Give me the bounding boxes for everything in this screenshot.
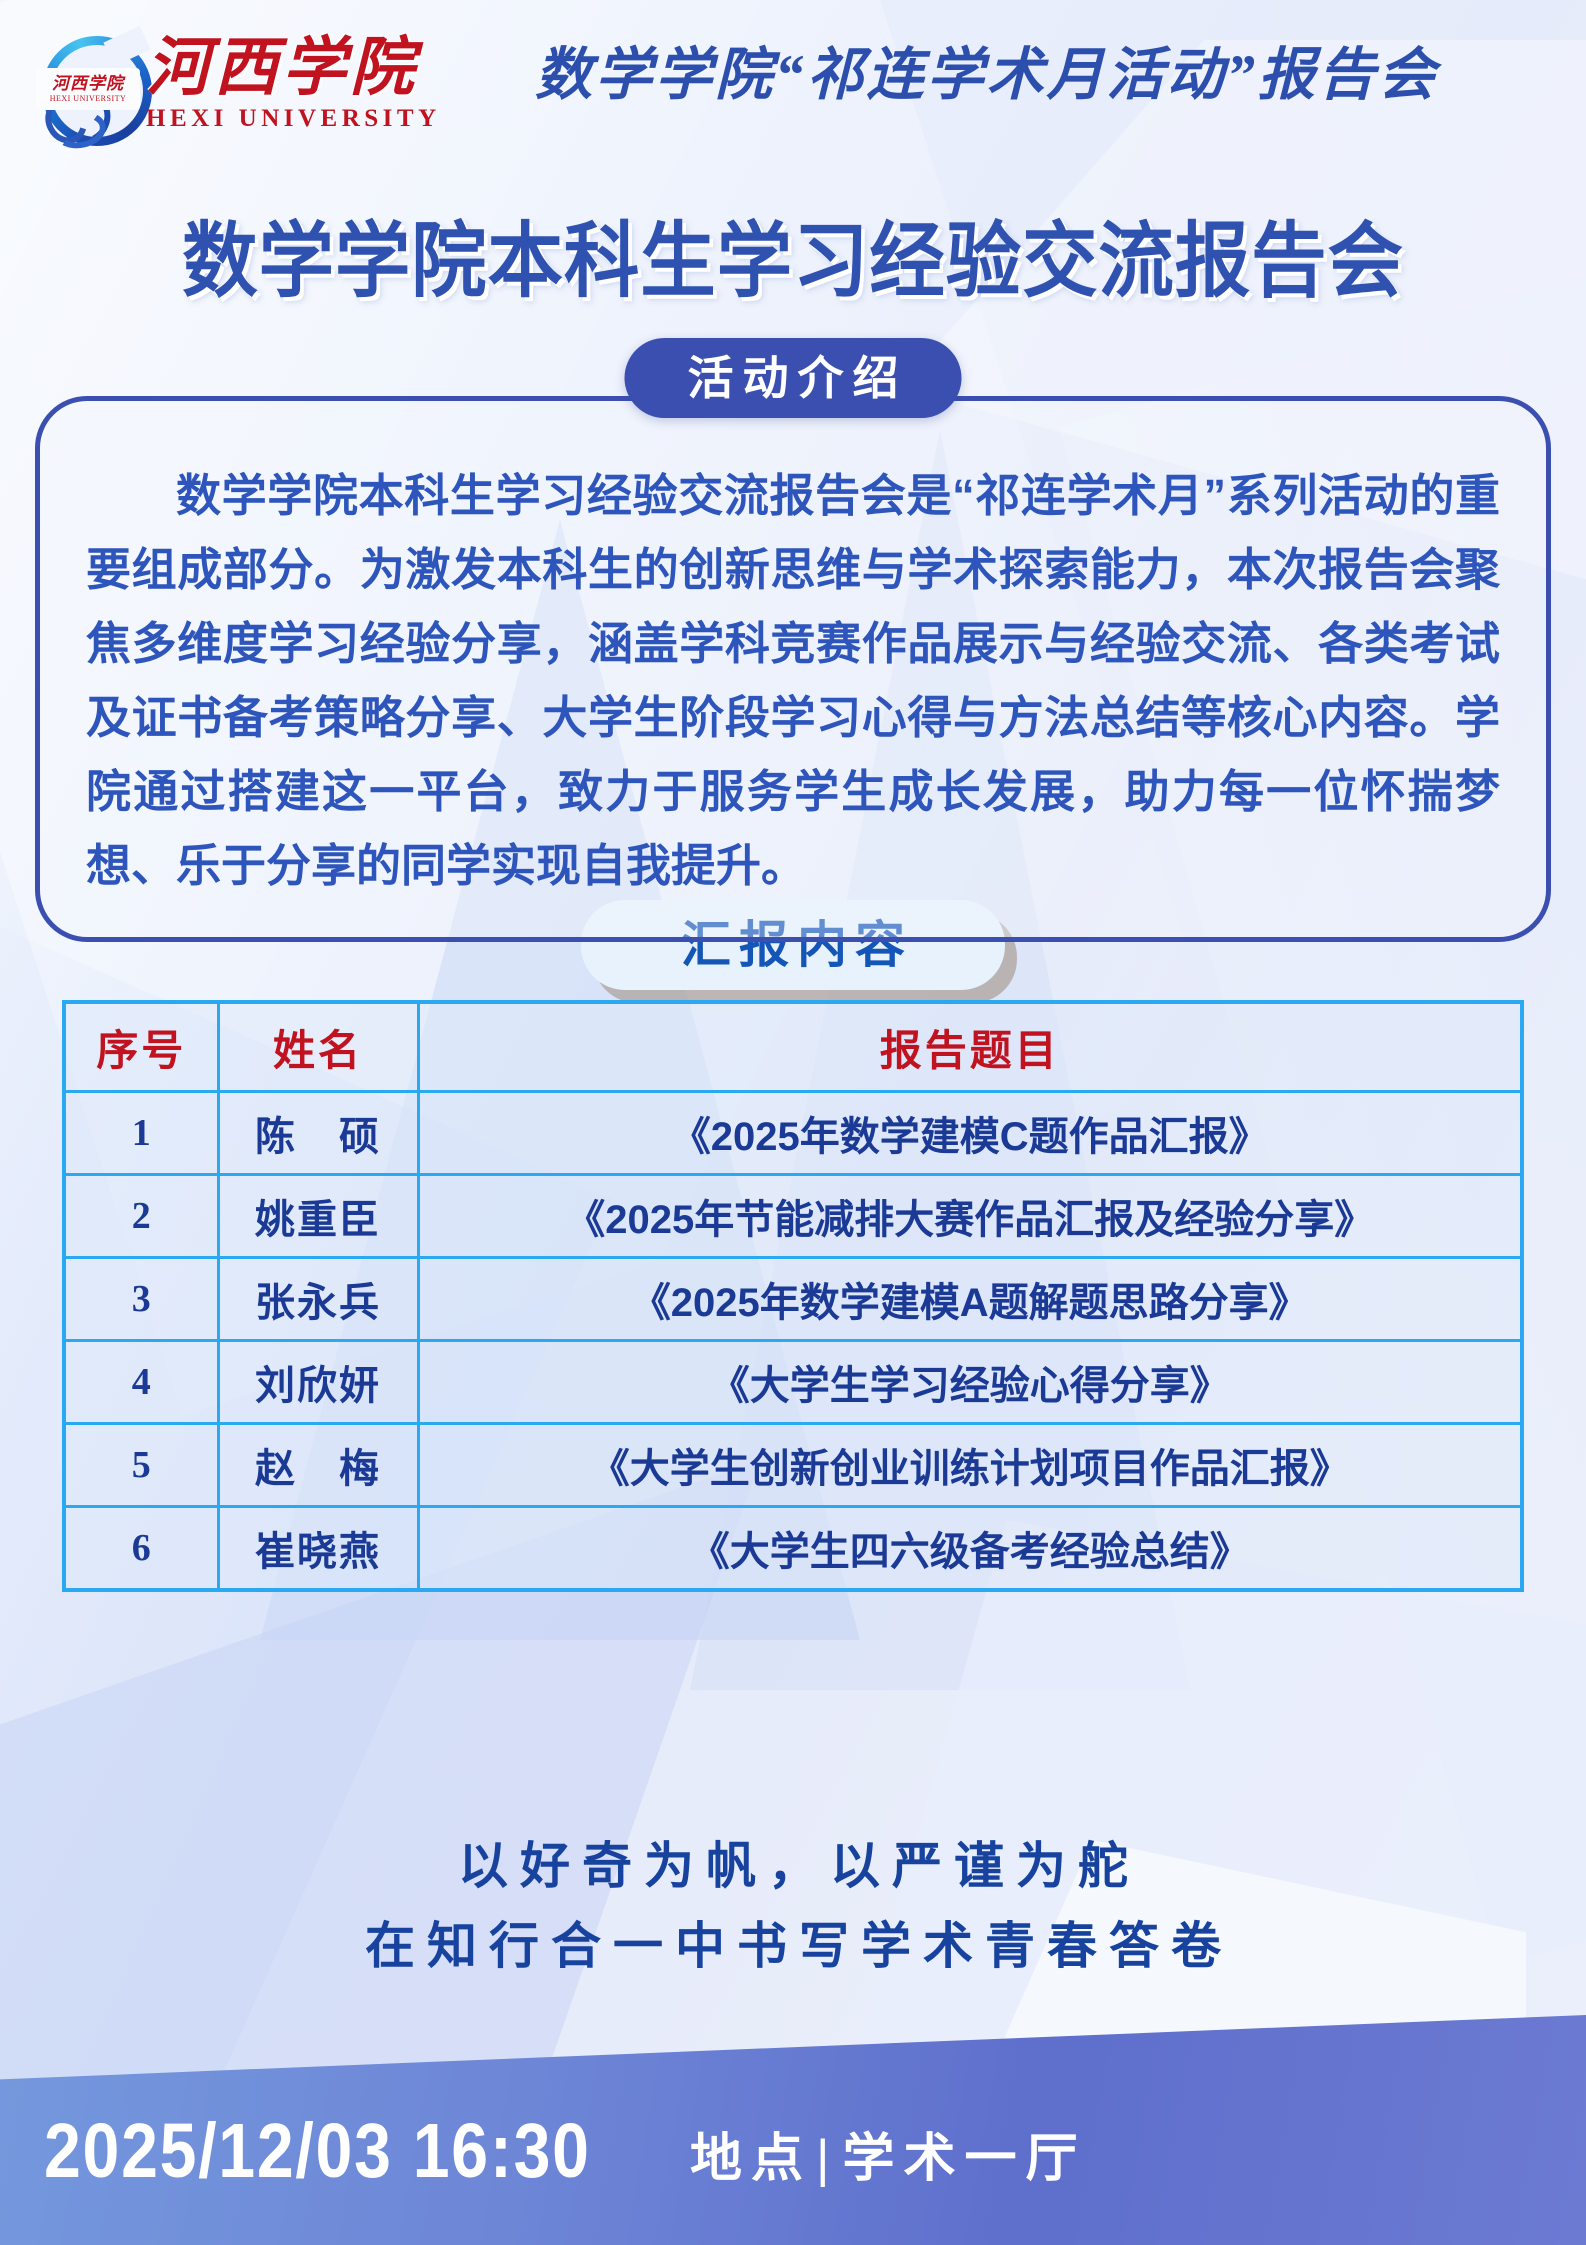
event-datetime: 2025/12/03 16:30	[44, 2109, 591, 2193]
event-location: 地点|学术一厅	[690, 2129, 1087, 2189]
logo-ring-icon: 河西学院 HEXI UNIVERSITY	[24, 32, 142, 144]
cell-name: 赵 梅	[218, 1424, 418, 1507]
intro-badge: 活动介绍	[625, 338, 962, 418]
cell-title: 《大学生四六级备考经验总结》	[418, 1507, 1522, 1591]
intro-panel: 数学学院本科生学习经验交流报告会是“祁连学术月”系列活动的重要组成部分。为激发本…	[35, 396, 1551, 942]
poster-header: 河西学院 HEXI UNIVERSITY 河西学院 HEXI UNIVERSIT…	[0, 0, 1586, 155]
intro-body-text: 数学学院本科生学习经验交流报告会是“祁连学术月”系列活动的重要组成部分。为激发本…	[86, 459, 1500, 903]
cell-no: 6	[64, 1507, 218, 1591]
cell-no: 4	[64, 1341, 218, 1424]
logo-emblem-en: HEXI UNIVERSITY	[50, 95, 127, 103]
logo-emblem-cn: 河西学院	[52, 75, 124, 92]
cell-no: 2	[64, 1175, 218, 1258]
poster-canvas: 河西学院 HEXI UNIVERSITY 河西学院 HEXI UNIVERSIT…	[0, 0, 1586, 2245]
table-row: 2 姚重臣 《2025年节能减排大赛作品汇报及经验分享》	[64, 1175, 1522, 1258]
slogan-line-2: 在知行合一中书写学术青春答卷	[0, 1915, 1586, 1977]
cell-name: 陈 硕	[218, 1092, 418, 1175]
slogan-line-1: 以好奇为帆，以严谨为舵	[0, 1835, 1586, 1897]
cell-name: 刘欣妍	[218, 1341, 418, 1424]
header-subtitle: 数学学院“祁连学术月活动”报告会	[535, 40, 1570, 112]
table-row: 5 赵 梅 《大学生创新创业训练计划项目作品汇报》	[64, 1424, 1522, 1507]
cell-title: 《2025年数学建模A题解题思路分享》	[418, 1258, 1522, 1341]
cell-title: 《大学生创新创业训练计划项目作品汇报》	[418, 1424, 1522, 1507]
logo-wordmark-cn: 河西学院	[146, 34, 526, 102]
cell-no: 1	[64, 1092, 218, 1175]
logo-emblem-plate: 河西学院 HEXI UNIVERSITY	[36, 68, 140, 110]
cell-title: 《大学生学习经验心得分享》	[418, 1341, 1522, 1424]
column-header-title: 报告题目	[418, 1002, 1522, 1092]
cell-name: 崔晓燕	[218, 1507, 418, 1591]
column-header-name: 姓名	[218, 1002, 418, 1092]
location-value: 学术一厅	[843, 2130, 1087, 2188]
university-logo: 河西学院 HEXI UNIVERSITY 河西学院 HEXI UNIVERSIT…	[18, 26, 518, 146]
cell-name: 张永兵	[218, 1258, 418, 1341]
page-title: 数学学院本科生学习经验交流报告会	[63, 214, 1522, 310]
cell-title: 《2025年数学建模C题作品汇报》	[418, 1092, 1522, 1175]
column-header-no: 序号	[64, 1002, 218, 1092]
table-row: 3 张永兵 《2025年数学建模A题解题思路分享》	[64, 1258, 1522, 1341]
schedule-table-body: 1 陈 硕 《2025年数学建模C题作品汇报》 2 姚重臣 《2025年节能减排…	[64, 1092, 1522, 1591]
table-header-row: 序号 姓名 报告题目	[64, 1002, 1522, 1092]
location-separator: |	[812, 2130, 843, 2188]
schedule-table-wrapper: 序号 姓名 报告题目 1 陈 硕 《2025年数学建模C题作品汇报》 2 姚重臣…	[62, 1000, 1524, 1592]
schedule-table: 序号 姓名 报告题目 1 陈 硕 《2025年数学建模C题作品汇报》 2 姚重臣…	[62, 1000, 1524, 1592]
cell-no: 5	[64, 1424, 218, 1507]
logo-wordmark-en: HEXI UNIVERSITY	[146, 104, 526, 134]
location-label: 地点	[690, 2130, 812, 2188]
table-row: 6 崔晓燕 《大学生四六级备考经验总结》	[64, 1507, 1522, 1591]
cell-name: 姚重臣	[218, 1175, 418, 1258]
cell-no: 3	[64, 1258, 218, 1341]
table-row: 4 刘欣妍 《大学生学习经验心得分享》	[64, 1341, 1522, 1424]
cell-title: 《2025年节能减排大赛作品汇报及经验分享》	[418, 1175, 1522, 1258]
table-row: 1 陈 硕 《2025年数学建模C题作品汇报》	[64, 1092, 1522, 1175]
logo-wordmark: 河西学院 HEXI UNIVERSITY	[146, 34, 526, 134]
